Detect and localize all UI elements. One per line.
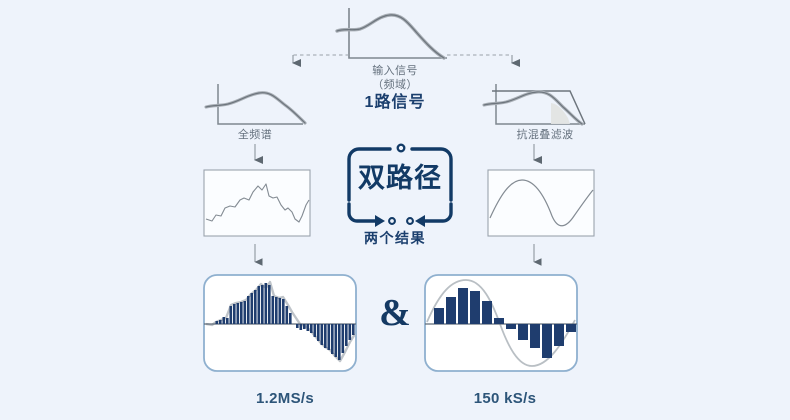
- input-signal-chart-icon: [337, 8, 447, 58]
- badge-top-dot-icon: [398, 145, 405, 152]
- diagram-graphics: [0, 0, 790, 420]
- dual-path-badge-title: 双路径: [345, 162, 455, 194]
- full-spectrum-chart-icon: [206, 84, 305, 124]
- ampersand-join-symbol: &: [373, 294, 417, 332]
- input-signal-sublabel: （频域）: [315, 78, 475, 92]
- input-signal-label: 输入信号: [315, 64, 475, 78]
- branch-connectors: [293, 55, 512, 63]
- diagram-canvas: 输入信号 （频域） 1路信号 全频谱 抗混叠滤波 双路径 两个结果 & 1.2M…: [0, 0, 790, 420]
- arrow-left-icon: [415, 215, 425, 227]
- noisy-waveform-box: [204, 170, 310, 236]
- badge-dot-icon: [407, 218, 413, 224]
- arrow-right-icon: [375, 215, 385, 227]
- high-rate-sampling-box: [204, 275, 356, 371]
- two-results-label: 两个结果: [320, 231, 470, 245]
- badge-dot-icon: [389, 218, 395, 224]
- sine-waveform-box: [488, 170, 594, 236]
- one-channel-label: 1路信号: [315, 96, 475, 110]
- low-rate-sampling-box: [425, 275, 577, 371]
- full-spectrum-caption: 全频谱: [200, 128, 310, 142]
- low-rate-label: 150 kS/s: [425, 390, 585, 407]
- high-rate-label: 1.2MS/s: [205, 390, 365, 407]
- antialias-filter-caption: 抗混叠滤波: [480, 128, 610, 142]
- antialias-filter-chart-icon: [484, 84, 585, 124]
